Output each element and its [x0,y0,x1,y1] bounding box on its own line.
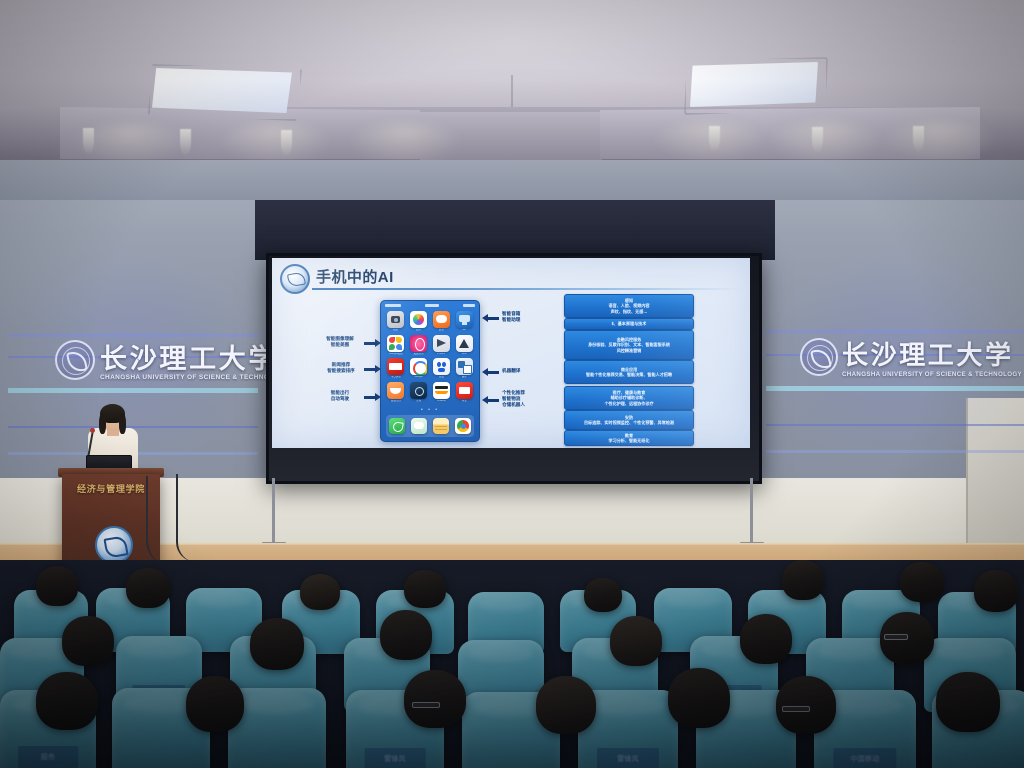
audience-head [300,574,340,610]
annotation-left-2: 新闻推荐 智能搜索排序 [310,362,372,374]
meitu-icon [410,335,427,352]
annotation-left-3: 智能出行 自动驾驶 [310,390,370,402]
app-cell[interactable]: 滴滴出行 [386,382,406,403]
info-box: 医疗、健康与教育 辅助诊疗辅助诊断、 个性化护理、远程协作诊疗 [564,386,694,410]
app-cell[interactable]: 翻译 [454,358,474,379]
cable [146,476,174,568]
arrow-shaft-right-3 [488,399,499,402]
app-label: Google相册 [389,353,403,356]
prisma-icon [433,335,450,352]
arrow-head-left-2 [375,365,381,373]
arrow-shaft-right-2 [488,371,499,374]
cable [176,474,196,562]
app-cell[interactable]: Google [409,358,429,379]
seat-back-tag: 雷锋风 [597,748,659,768]
annotation-right-3: 个性化推荐 智能物流 仓储机器人 [502,390,554,409]
audience-head [782,560,824,600]
status-battery-icon [463,304,475,307]
microphone-icon [90,428,95,433]
chrome-icon[interactable] [455,418,471,434]
status-time [425,304,439,307]
app-cell[interactable]: 京东 [409,382,429,403]
app-label: 淘宝 [462,400,467,403]
app-cell[interactable]: 美图秀秀 [409,335,429,356]
app-label: 信息 [439,329,444,332]
banner-streak [8,388,258,393]
audience-head [610,616,662,666]
banner-right-cn: 长沙理工大学 [842,335,1014,372]
arrow-shaft-left-3 [364,396,375,399]
app-cell[interactable]: 淘宝 [454,382,474,403]
toutiao-icon [387,358,404,375]
app-label: Vinci [461,353,467,356]
info-box-text: Ⅱ、基本原理与技术 [610,321,649,326]
app-cell[interactable]: Prisma [432,335,452,356]
audience-head [186,676,244,732]
app-label: 京东 [416,400,421,403]
app-label: Amazon [437,400,447,403]
info-box-text: 商业应用 智能个性化推荐交易、智能决策、智能人才招聘 [584,367,674,377]
audience-head [776,676,836,734]
info-box-text: 金融风控服务 身份核验、反欺诈识别、文本、智能客服系统 风控精准营销 [586,337,672,353]
audience-head [740,614,792,664]
university-seal-icon-right [800,338,838,376]
google-icon [410,358,427,375]
banner-right-en: CHANGSHA UNIVERSITY OF SCIENCE & TECHNOL… [842,371,1022,378]
slide-university-logo-icon [280,264,310,294]
wall-top-trim [0,160,1024,200]
info-box-text: 感知 语音、人脸、视频内容 声纹、指纹、无感… [607,298,652,314]
app-label: Siri [462,329,466,332]
app-cell[interactable]: Google相册 [386,335,406,356]
audience-head [250,618,304,670]
banner-streak [766,330,1024,333]
phone-app-grid: 相机 照片 信息 [386,311,474,402]
arrow-shaft-left-1 [364,342,375,345]
seat-tag-text: 雷锋风 [384,754,406,764]
banner-streak [766,386,1024,391]
seat-tag-text: 中国移动 [850,754,879,764]
banner-streak [766,450,1024,453]
info-box: 教育 学习分析、智能无纸化 [564,430,694,446]
baidu-icon [433,358,450,375]
audience-head [936,672,1000,732]
info-box: Ⅱ、基本原理与技术 [564,318,694,330]
banner-left-en: CHANGSHA UNIVERSITY OF SCIENCE & TECHNOL… [100,374,289,381]
banner-left-cn: 长沙理工大学 [100,337,278,376]
slide-title: 手机中的AI [316,266,394,287]
app-cell[interactable]: 相机 [386,311,406,332]
audience-head [536,676,596,734]
photos-icon [410,311,427,328]
seat-tag-text: 服务 [41,752,56,762]
app-label: 翻译 [462,376,467,379]
arrow-head-left-1 [375,339,381,347]
banner-streak [766,424,1024,426]
app-cell[interactable]: 今日头条 [386,358,406,379]
taobao-icon [456,382,473,399]
audience-head [900,562,944,602]
presentation-screen[interactable]: 手机中的AI 相机 [272,258,750,448]
seat-back-tag: 中国移动 [833,748,896,768]
info-box-text: 安防 目标追踪、实时视频监控、个性化预警、异常检测 [582,415,676,425]
notes-icon[interactable] [433,418,449,434]
speaker-hair-side-left [99,414,106,434]
speaker-hair-side-right [119,414,126,434]
app-cell[interactable]: 信息 [432,311,452,332]
audience-head [62,616,114,666]
lecture-hall-scene: 长沙理工大学 CHANGSHA UNIVERSITY OF SCIENCE & … [0,0,1024,768]
didi-icon [387,382,404,399]
info-box: 安防 目标追踪、实时视频监控、个性化预警、异常检测 [564,410,694,430]
gphotos-icon [387,335,404,352]
status-carrier [385,304,401,307]
slide-title-rule [312,288,742,290]
info-box: 金融风控服务 身份核验、反欺诈识别、文本、智能客服系统 风控精准营销 [564,330,694,360]
camera-icon [387,311,404,328]
app-cell[interactable]: Amazon [432,382,452,403]
audience-head [974,570,1018,612]
phone-dock [386,415,474,437]
app-label: 相机 [393,329,398,332]
eyeglasses-icon [884,634,908,640]
audience-head [36,672,98,730]
app-cell[interactable]: Siri [454,311,474,332]
audience-head [380,610,432,660]
annotation-right-1: 智能音箱 智能助理 [502,311,554,323]
app-label: 美图秀秀 [413,353,423,356]
info-box: 感知 语音、人脸、视频内容 声纹、指纹、无感… [564,294,694,318]
arrow-head-left-3 [375,393,381,401]
app-cell[interactable]: Vinci [454,335,474,356]
app-label: Google [414,376,422,379]
info-box-text: 医疗、健康与教育 辅助诊疗辅助诊断、 个性化护理、远程协作诊疗 [602,390,655,406]
phone-mockup: 相机 照片 信息 [380,300,480,442]
amazon-icon [433,382,450,399]
phone-status-bar [381,302,479,309]
seat-tag-text: 雷锋风 [617,754,639,764]
screen-stand-right [750,478,753,544]
seat-back-tag: 服务 [18,746,78,768]
phone-page-dots: • • • [381,408,479,413]
jd-icon [410,382,427,399]
wall-recess-above-screen [255,200,775,260]
audience-head [126,568,170,608]
audience-head [404,670,466,728]
university-seal-icon-podium [95,526,133,564]
siri-icon [456,311,473,328]
phone-call-icon[interactable] [389,418,405,434]
translate-icon [456,358,473,375]
university-seal-icon-left [55,340,95,380]
eyeglasses-icon [412,702,440,708]
eyeglasses-icon [782,706,810,712]
app-cell[interactable]: 照片 [409,311,429,332]
info-box: 商业应用 智能个性化推荐交易、智能决策、智能人才招聘 [564,360,694,384]
app-label: Prisma [437,353,445,356]
messages-icon[interactable] [411,418,427,434]
triangle-icon [456,335,473,352]
audience-head [404,570,446,608]
annotation-left-1: 智能图像理解 智能美图 [310,336,370,348]
arrow-shaft-left-2 [364,368,375,371]
app-label: 今日头条 [391,376,401,379]
arrow-shaft-right-1 [488,317,499,320]
annotation-right-2: 机器翻译 [502,368,554,374]
app-label: 百度 [439,376,444,379]
audience-head [584,578,622,612]
audience-head [668,668,730,728]
app-label: 滴滴出行 [391,400,401,403]
screen-stand-left [272,478,275,544]
message-icon [433,311,450,328]
app-label: 照片 [416,329,421,332]
audience-head [36,566,78,606]
app-cell[interactable]: 百度 [432,358,452,379]
audience-area: 中国移动 和目 服务 雷锋风 [0,560,1024,768]
seat-back-tag: 雷锋风 [365,748,426,768]
banner-streak [8,426,258,428]
info-box-text: 教育 学习分析、智能无纸化 [607,433,652,443]
